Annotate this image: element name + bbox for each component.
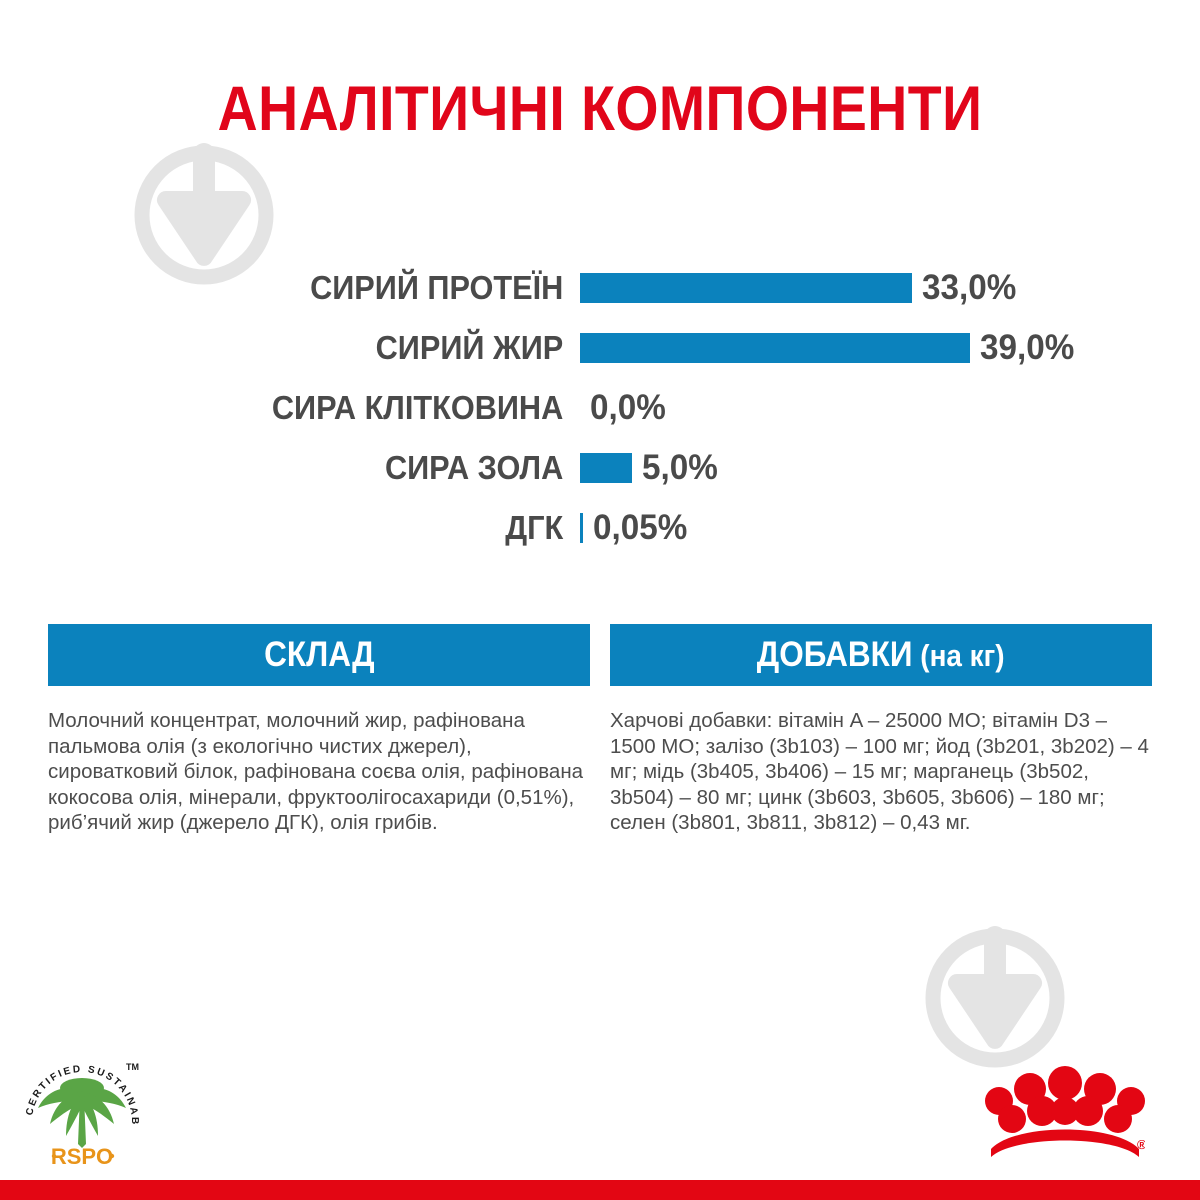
additives-header-label: ДОБАВКИ [757, 635, 913, 674]
bottom-accent-bar [0, 1180, 1200, 1200]
row-bar-wrapper: 0,05% [580, 510, 1200, 546]
row-label-crude-fibre: СИРА КЛІТКОВИНА [41, 391, 580, 425]
svg-text:RSPO: RSPO [51, 1144, 113, 1169]
row-label-crude-protein: СИРИЙ ПРОТЕЇН [41, 271, 580, 305]
row-bar-wrapper: 5,0% [580, 450, 1200, 486]
analytical-components-chart: СИРИЙ ПРОТЕЇН 33,0% СИРИЙ ЖИР 39,0% СИРА… [0, 258, 1200, 558]
svg-text:®: ® [1137, 1137, 1145, 1152]
svg-text:TM: TM [126, 1062, 139, 1072]
page-title: АНАЛІТИЧНІ КОМПОНЕНТИ [72, 76, 1128, 142]
row-value-crude-fibre: 0,0% [590, 390, 666, 426]
row-label-crude-ash: СИРА ЗОЛА [41, 451, 580, 485]
additives-body-text: Харчові добавки: вітамін A – 25000 МО; в… [610, 708, 1152, 836]
table-row: СИРА ЗОЛА 5,0% [0, 438, 1200, 498]
row-bar-wrapper: 33,0% [580, 270, 1200, 306]
row-value-dha: 0,05% [593, 510, 687, 546]
additives-header-inner: ДОБАВКИ (на кг) [757, 624, 1005, 686]
composition-header-label: СКЛАД [264, 624, 374, 686]
composition-column: СКЛАД Молочний концентрат, молочний жир,… [48, 624, 590, 836]
analytical-components-page: АНАЛІТИЧНІ КОМПОНЕНТИ СИРИЙ ПРОТЕЇН 33,0… [0, 0, 1200, 1200]
rspo-certification-logo: CERTIFIED SUSTAINABLE PALM OIL TM RSPO [18, 1052, 146, 1180]
additives-header: ДОБАВКИ (на кг) [610, 624, 1152, 686]
bar-crude-protein [580, 273, 912, 303]
row-label-dha: ДГК [41, 511, 580, 545]
table-row: ДГК 0,05% [0, 498, 1200, 558]
kibble-watermark-icon-secondary [915, 918, 1075, 1078]
table-row: СИРИЙ ПРОТЕЇН 33,0% [0, 258, 1200, 318]
row-value-crude-ash: 5,0% [642, 450, 718, 486]
royal-canin-logo: ® [985, 1065, 1145, 1160]
bar-crude-fat [580, 333, 970, 363]
row-bar-wrapper: 39,0% [580, 330, 1200, 366]
info-columns: СКЛАД Молочний концентрат, молочний жир,… [48, 624, 1152, 836]
row-bar-wrapper: 0,0% [580, 390, 1200, 426]
composition-body-text: Молочний концентрат, молочний жир, рафін… [48, 708, 590, 836]
additives-header-sublabel: (на кг) [913, 638, 1005, 673]
additives-column: ДОБАВКИ (на кг) Харчові добавки: вітамін… [610, 624, 1152, 836]
bar-crude-ash [580, 453, 632, 483]
row-value-crude-protein: 33,0% [922, 270, 1016, 306]
table-row: СИРА КЛІТКОВИНА 0,0% [0, 378, 1200, 438]
composition-header: СКЛАД [48, 624, 590, 686]
table-row: СИРИЙ ЖИР 39,0% [0, 318, 1200, 378]
row-label-crude-fat: СИРИЙ ЖИР [41, 331, 580, 365]
bar-dha [580, 513, 583, 543]
row-value-crude-fat: 39,0% [980, 330, 1074, 366]
